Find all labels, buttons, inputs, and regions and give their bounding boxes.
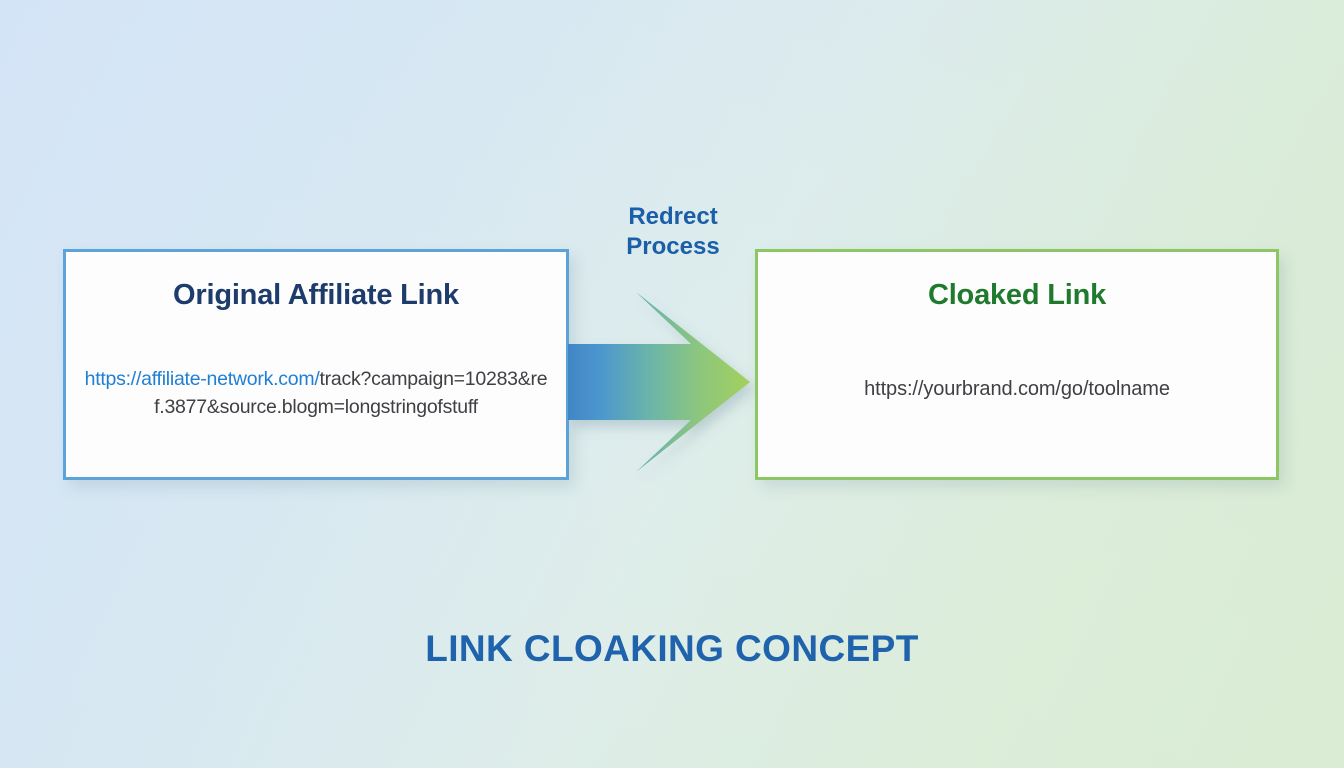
- right-arrow-chevron-icon: [556, 286, 761, 482]
- original-affiliate-link-title: Original Affiliate Link: [66, 279, 566, 312]
- diagram-canvas: Original Affiliate Link https://affiliat…: [0, 0, 1344, 768]
- redirect-arrow: [556, 286, 761, 482]
- original-affiliate-link-card: Original Affiliate Link https://affiliat…: [63, 249, 569, 480]
- redirect-process-label: Redrect Process: [588, 202, 758, 262]
- original-url-domain: https://affiliate-network.com/: [85, 368, 320, 390]
- original-affiliate-link-url: https://affiliate-network.com/track?camp…: [80, 365, 552, 421]
- page-title: LINK CLOAKING CONCEPT: [0, 628, 1344, 670]
- redirect-label-line-2: Process: [588, 232, 758, 262]
- redirect-label-line-1: Redrect: [588, 202, 758, 232]
- cloaked-link-card: Cloaked Link https://yourbrand.com/go/to…: [755, 249, 1279, 480]
- cloaked-link-url: https://yourbrand.com/go/toolname: [772, 375, 1262, 403]
- cloaked-link-title: Cloaked Link: [758, 279, 1276, 312]
